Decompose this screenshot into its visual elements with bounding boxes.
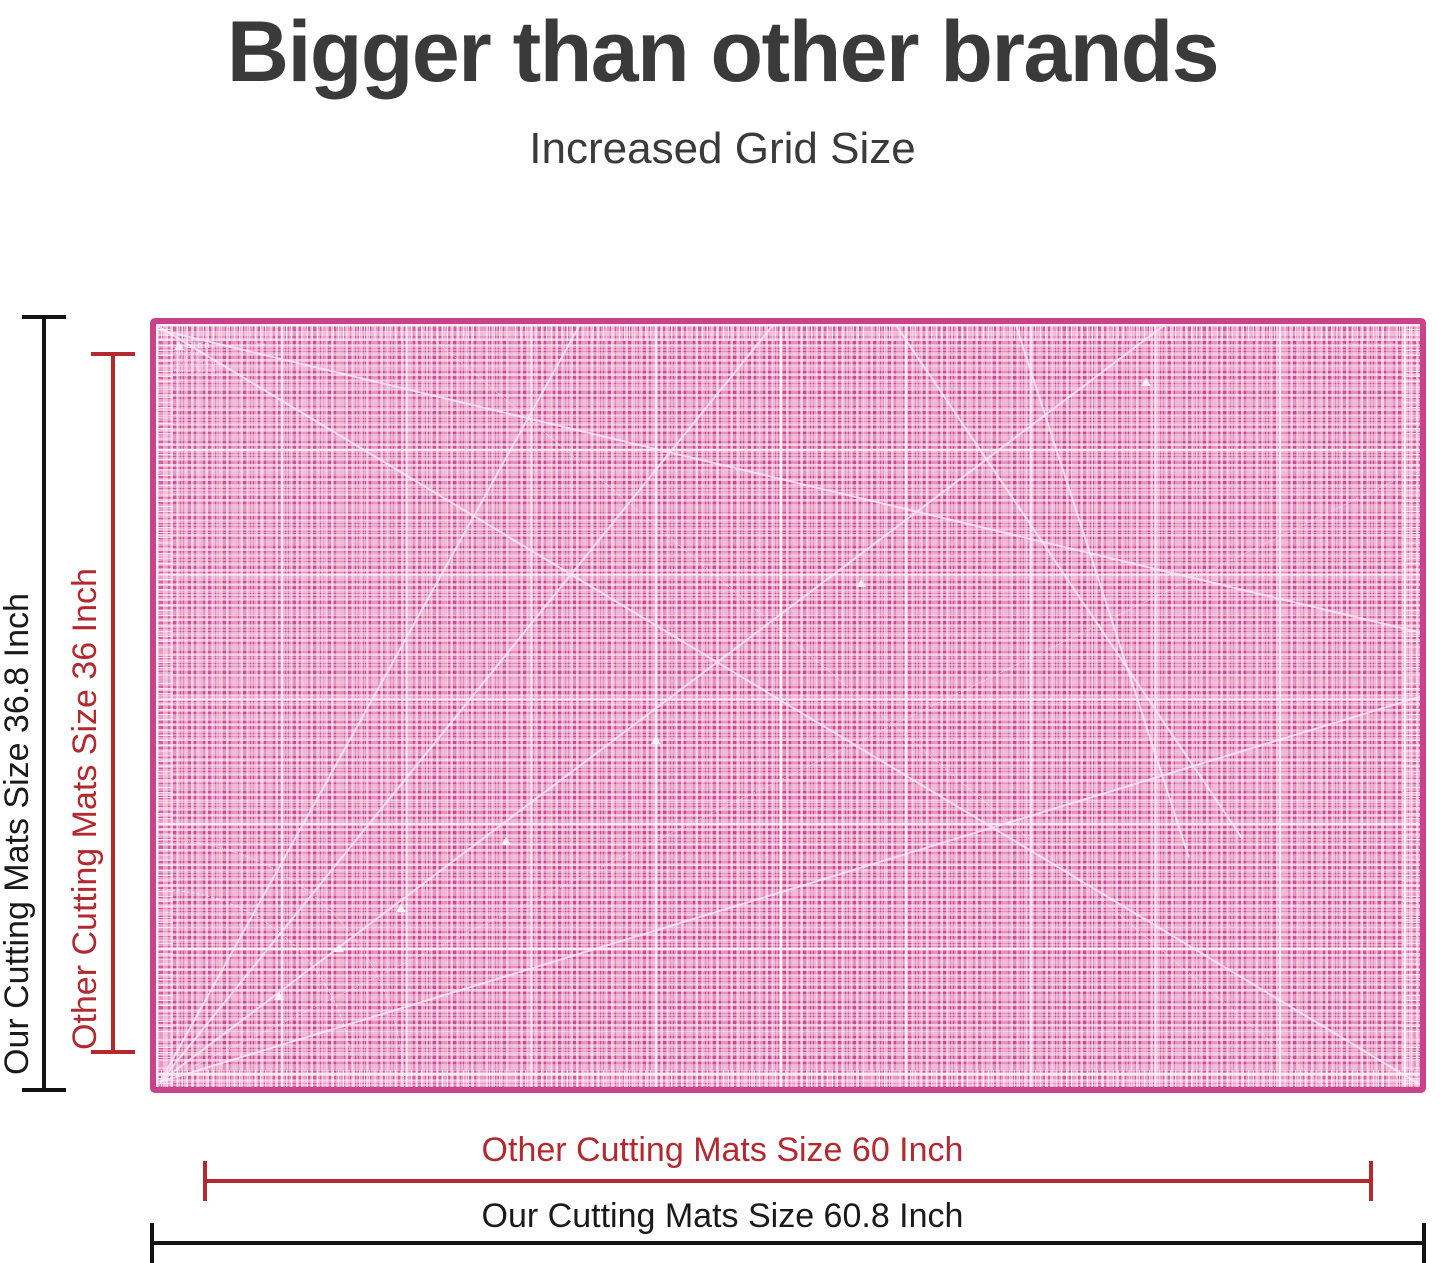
dimension-shaft bbox=[111, 352, 115, 1054]
dimension-cap-bottom bbox=[22, 1088, 66, 1092]
dimension-shaft bbox=[42, 315, 46, 1092]
page-subtitle: Increased Grid Size bbox=[0, 122, 1445, 176]
dimension-line-horizontal-ours bbox=[150, 1225, 1426, 1261]
mat-surface-sheen bbox=[156, 324, 1420, 1087]
dimension-cap-right bbox=[1369, 1161, 1373, 1201]
dimension-line-horizontal-other bbox=[203, 1163, 1373, 1199]
dimension-label-vertical-other: Other Cutting Mats Size 36 Inch bbox=[68, 568, 102, 1050]
cutting-mat-surface: Elan Size : Arts & Crafts 36 x 60 Inch S… bbox=[156, 324, 1420, 1087]
dimension-cap-right bbox=[1422, 1223, 1426, 1263]
cutting-mat: Elan Size : Arts & Crafts 36 x 60 Inch S… bbox=[150, 318, 1426, 1093]
page-title: Bigger than other brands bbox=[0, 4, 1445, 100]
dimension-label-vertical-ours: Our Cutting Mats Size 36.8 Inch bbox=[0, 593, 34, 1075]
dimension-cap-bottom bbox=[91, 1050, 135, 1054]
dimension-shaft bbox=[203, 1179, 1373, 1183]
dimension-shaft bbox=[150, 1241, 1426, 1245]
